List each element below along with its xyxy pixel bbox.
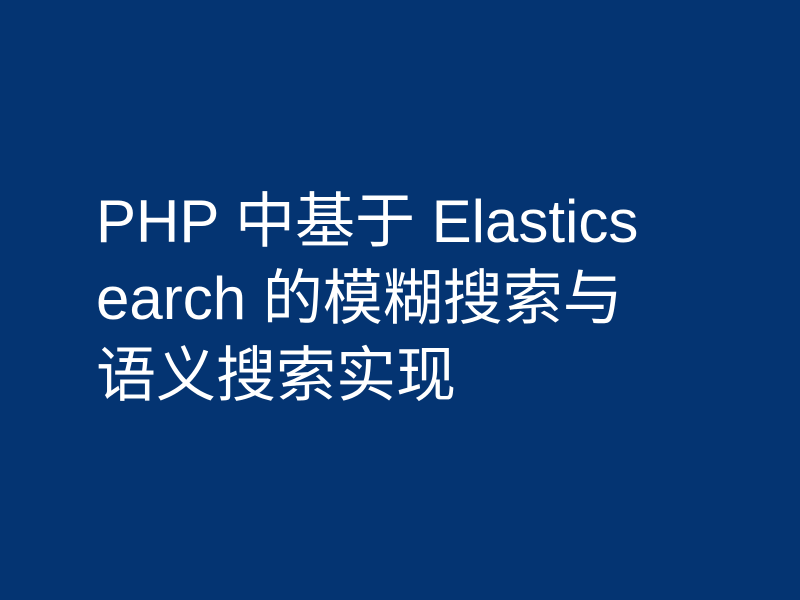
cover-title: PHP 中基于 Elasticsearch 的模糊搜索与语义搜索实现 (96, 183, 642, 414)
article-cover-card: PHP 中基于 Elasticsearch 的模糊搜索与语义搜索实现 (0, 0, 800, 600)
title-block: PHP 中基于 Elasticsearch 的模糊搜索与语义搜索实现 (96, 183, 642, 414)
